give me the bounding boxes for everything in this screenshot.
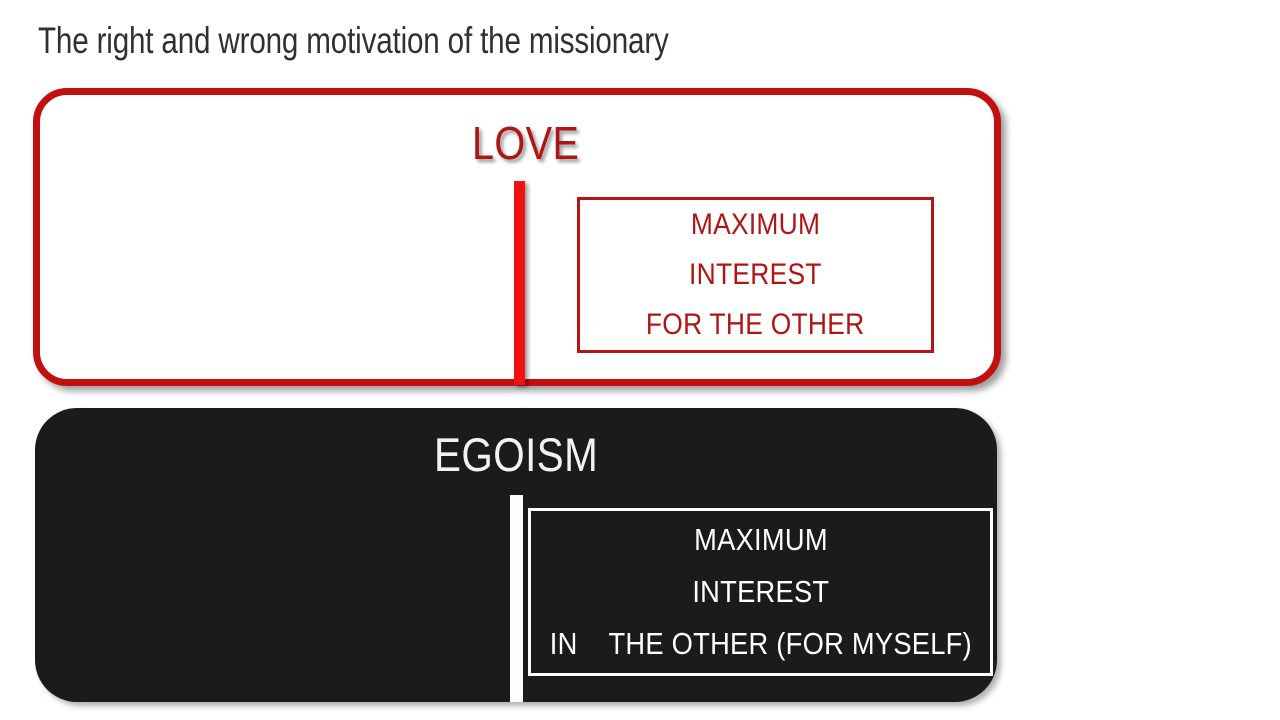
love-statement-line-3: FOR THE OTHER [646, 300, 865, 350]
egoism-heading: EGOISM [434, 429, 598, 481]
egoism-divider-bar [510, 495, 523, 702]
love-statement-line-1: MAXIMUM [691, 200, 820, 250]
page-title: The right and wrong motivation of the mi… [38, 18, 918, 64]
egoism-statement-box: MAXIMUM INTEREST IN THE OTHER (FOR MYSEL… [528, 508, 993, 676]
love-statement-box: MAXIMUM INTEREST FOR THE OTHER [577, 197, 934, 353]
egoism-statement-line-3: IN THE OTHER (FOR MYSELF) [549, 618, 971, 670]
love-divider-bar [514, 181, 525, 385]
presentation-slide: The right and wrong motivation of the mi… [0, 0, 1280, 720]
egoism-statement-line-2: INTEREST [692, 566, 829, 618]
love-heading: LOVE [472, 118, 579, 168]
love-panel: LOVE MAXIMUM INTEREST FOR THE OTHER [33, 88, 1001, 386]
egoism-panel: EGOISM MAXIMUM INTEREST IN THE OTHER (FO… [35, 408, 997, 702]
love-statement-line-2: INTEREST [689, 250, 822, 300]
egoism-statement-line-1: MAXIMUM [694, 514, 828, 566]
